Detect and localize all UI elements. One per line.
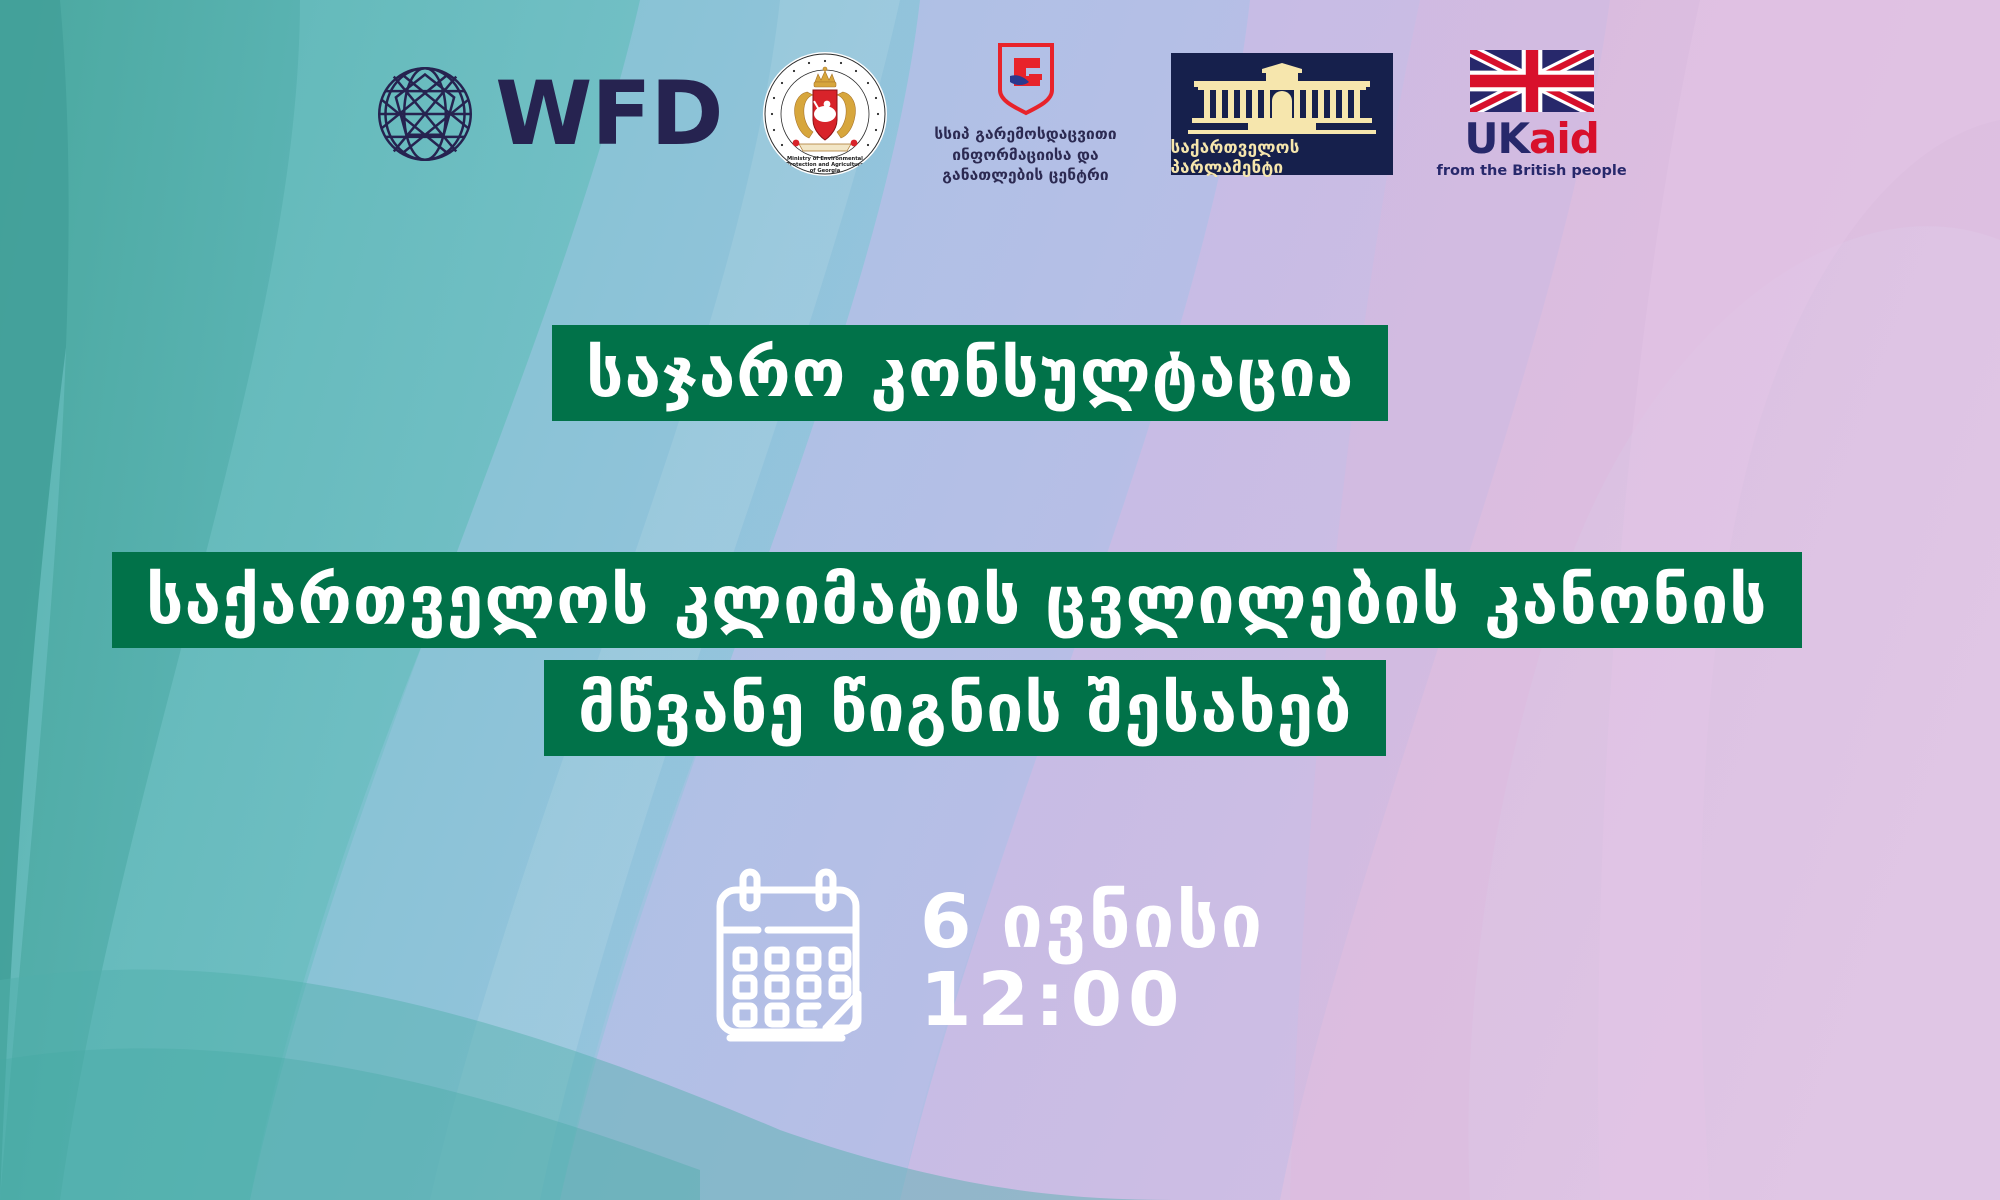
logo-parliament-of-georgia: საქართველოს პარლამენტი <box>1171 53 1393 175</box>
headline-banner-line-2: მწვანე წიგნის შესახებ <box>544 660 1386 756</box>
georgia-coat-of-arms-seal-icon: Ministry of Environmental Protection and… <box>763 52 887 176</box>
ukaid-uk-text: UK <box>1464 114 1529 163</box>
logo-ukaid: UKaid from the British people <box>1437 50 1627 179</box>
eyebrow-banner: საჯარო კონსულტაცია <box>552 325 1388 421</box>
ministry-caption-en-3: of Georgia <box>809 168 840 174</box>
wfd-wordmark: WFD <box>495 70 722 158</box>
calendar-icon <box>706 866 874 1056</box>
logo-ministry-of-environment: Ministry of Environmental Protection and… <box>763 52 887 176</box>
event-date: 6 ივნისი <box>920 883 1264 961</box>
event-time: 12:00 <box>920 961 1264 1039</box>
union-jack-flag-icon <box>1470 50 1594 112</box>
eiec-caption-line-1: სსიპ გარემოსდაცვითი <box>934 124 1116 144</box>
globe-wireframe-icon <box>373 62 477 166</box>
ukaid-tagline: from the British people <box>1437 163 1627 179</box>
ukaid-aid-text: aid <box>1529 114 1599 163</box>
event-datetime: 6 ივნისი 12:00 <box>706 866 1264 1056</box>
red-shield-book-icon <box>996 42 1056 116</box>
logo-environmental-info-education-centre: სსიპ გარემოსდაცვითი ინფორმაციისა და განა… <box>921 42 1131 185</box>
poster-canvas: WFD <box>0 0 2000 1200</box>
headline-banner-line-1: საქართველოს კლიმატის ცვლილების კანონის <box>112 552 1802 648</box>
eiec-caption-line-2: ინფორმაციისა და <box>934 145 1116 165</box>
parliament-caption: საქართველოს პარლამენტი <box>1171 138 1393 178</box>
ukaid-wordmark: UKaid <box>1464 118 1598 160</box>
parliament-building-icon <box>1184 59 1380 135</box>
partner-logo-strip: WFD <box>0 34 2000 194</box>
logo-wfd: WFD <box>373 62 722 166</box>
eiec-caption-line-3: განათლების ცენტრი <box>934 165 1116 185</box>
